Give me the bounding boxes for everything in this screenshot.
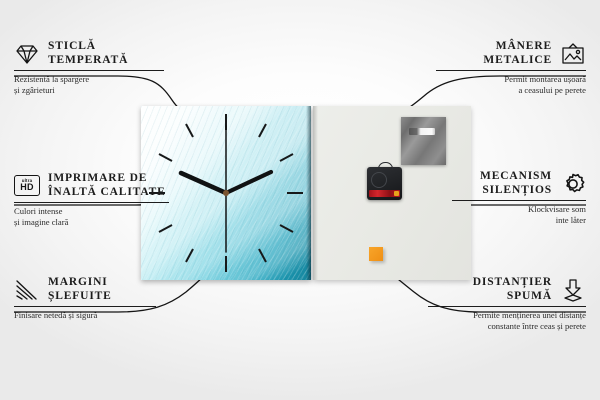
feature-polished-edges: MARGINI ȘLEFUITE Finisare netedă și sigu… xyxy=(14,276,156,321)
hanger-slot xyxy=(409,128,435,135)
divider xyxy=(14,202,169,203)
divider xyxy=(452,200,586,201)
ultra-hd-icon: ultra HD xyxy=(14,175,40,196)
down-arrow-stack-icon xyxy=(560,278,586,302)
divider xyxy=(14,306,156,307)
clock-mechanism xyxy=(367,167,402,200)
minute-hand xyxy=(226,172,271,193)
ultra-hd-icon-large-label: HD xyxy=(20,183,34,192)
feature-tempered-glass: STICLĂ TEMPERATĂ Rezistentă la spargere … xyxy=(14,40,164,95)
feature-subtitle: Klockvisare som inte låter xyxy=(452,204,586,225)
metal-hanger-plate xyxy=(401,117,446,165)
diamond-icon xyxy=(14,42,40,66)
mechanism-dial xyxy=(371,172,387,188)
feature-title: IMPRIMARE DE ÎNALTĂ CALITATE xyxy=(48,172,166,199)
feature-title: MÂNERE METALICE xyxy=(483,40,552,67)
feature-high-quality-print: ultra HD IMPRIMARE DE ÎNALTĂ CALITATE Cu… xyxy=(14,172,169,227)
mechanism-hook xyxy=(378,162,393,170)
feature-foam-spacer: DISTANȚIER SPUMĂ Permite menținerea unei… xyxy=(428,276,586,331)
clock-center-cap xyxy=(223,190,229,196)
divider xyxy=(436,70,586,71)
feature-subtitle: Permite menținerea unei distanțe constan… xyxy=(428,310,586,331)
hour-hand xyxy=(181,173,226,193)
product-photo xyxy=(141,106,471,280)
feature-title: STICLĂ TEMPERATĂ xyxy=(48,40,128,67)
gear-icon xyxy=(560,172,586,196)
feature-subtitle: Culori intense și imagine clară xyxy=(14,206,169,227)
divider xyxy=(428,306,586,307)
polished-edge-icon xyxy=(14,278,40,302)
infographic-canvas: STICLĂ TEMPERATĂ Rezistentă la spargere … xyxy=(0,0,600,400)
feature-subtitle: Finisare netedă și sigură xyxy=(14,310,156,321)
feature-title: MECANISM SILENȚIOS xyxy=(480,170,552,197)
picture-hanger-icon xyxy=(560,42,586,66)
feature-silent-mechanism: MECANISM SILENȚIOS Klockvisare som inte … xyxy=(452,170,586,225)
feature-subtitle: Permit montarea ușoară a ceasului pe per… xyxy=(436,74,586,95)
feature-title: MARGINI ȘLEFUITE xyxy=(48,276,112,303)
feature-title: DISTANȚIER SPUMĂ xyxy=(473,276,552,303)
clock-back-panel xyxy=(313,106,471,280)
feature-metal-hangers: MÂNERE METALICE Permit montarea ușoară a… xyxy=(436,40,586,95)
battery xyxy=(369,190,400,197)
feature-subtitle: Rezistentă la spargere și zgârieturi xyxy=(14,74,164,95)
foam-spacer xyxy=(369,247,383,261)
divider xyxy=(14,70,164,71)
